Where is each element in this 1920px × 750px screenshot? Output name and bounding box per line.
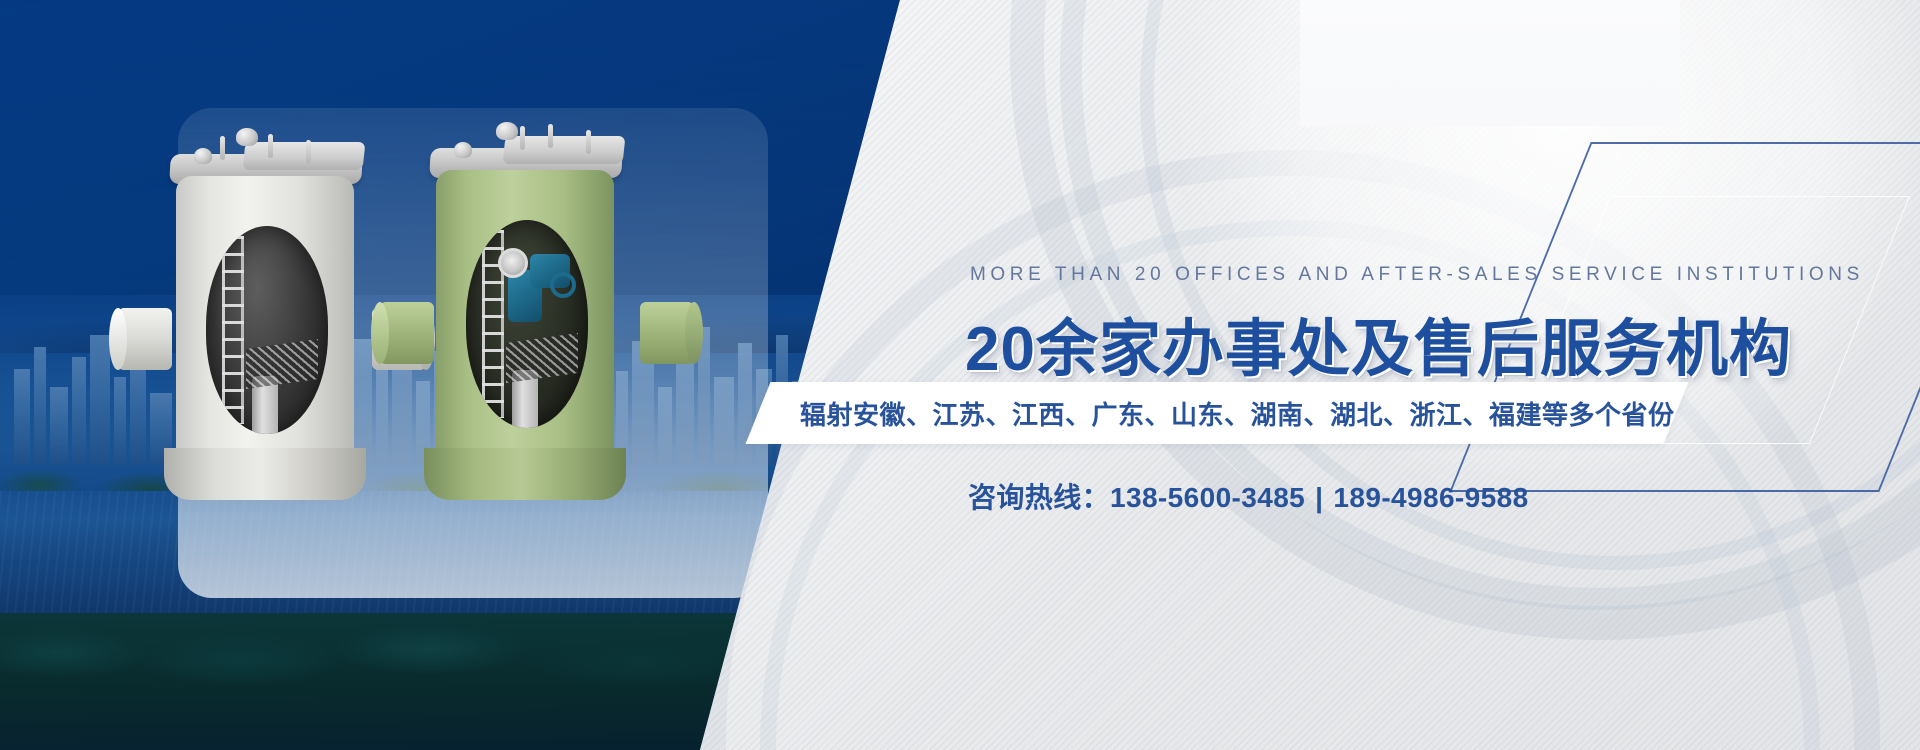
subtitle-text: 辐射安徽、江苏、江西、广东、山东、湖南、湖北、浙江、福建等多个省份 (800, 382, 1680, 444)
grey-internal-grate (246, 339, 318, 389)
blue-valve-assembly (496, 242, 576, 330)
green-vent-pin-3 (586, 130, 591, 154)
grey-cutaway-window (206, 226, 328, 434)
eyebrow-tagline: MORE THAN 20 OFFICES AND AFTER-SALES SER… (970, 264, 1864, 286)
hotline-row: 咨询热线：138-5600-3485|189-4986-9588 (968, 476, 1529, 516)
green-vent-pin-1 (520, 126, 525, 150)
valve-handwheel-icon (550, 272, 576, 298)
green-vent-knob-2 (454, 142, 472, 158)
hotline-label: 咨询热线： (968, 482, 1110, 513)
grey-base-flare (164, 448, 366, 500)
grey-vent-pin-1 (220, 136, 225, 160)
product-green-pump-station (408, 112, 660, 500)
hotline-phone-secondary[interactable]: 189-4986-9588 (1333, 482, 1528, 513)
green-base-flare (424, 448, 626, 500)
hotline-phone-primary[interactable]: 138-5600-3485 (1110, 482, 1305, 513)
headline-title: 20余家办事处及售后服务机构 (965, 298, 1792, 388)
grey-inlet-nozzle (118, 308, 172, 370)
green-inlet-nozzle (380, 302, 434, 364)
green-vent-pin-2 (548, 124, 553, 148)
green-cutaway-window (466, 220, 588, 428)
grey-vent-pin-3 (306, 140, 311, 164)
green-outlet-nozzle (640, 302, 694, 364)
grey-vent-pin-2 (268, 134, 273, 158)
pipe-flange (498, 248, 528, 278)
grey-internal-ladder (222, 236, 244, 424)
grey-vent-knob-2 (194, 148, 212, 164)
grey-vent-knob-1 (236, 128, 258, 146)
hero-banner: MORE THAN 20 OFFICES AND AFTER-SALES SER… (0, 0, 1920, 750)
grey-lid-secondary (243, 142, 366, 170)
green-vent-knob-1 (496, 122, 518, 140)
hotline-separator: | (1305, 482, 1333, 513)
green-internal-grate (506, 333, 578, 383)
product-grey-pump-station (148, 118, 396, 500)
